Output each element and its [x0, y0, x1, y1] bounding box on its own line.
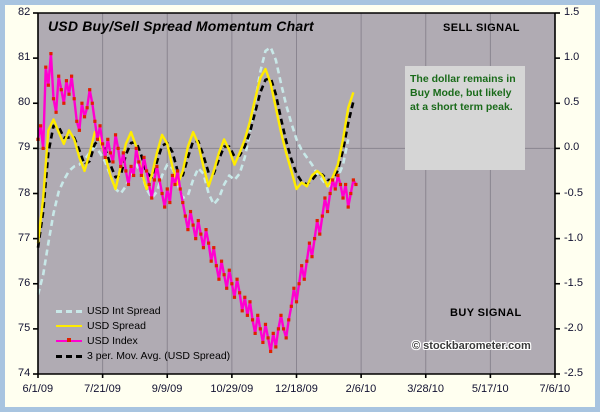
series-marker: [114, 133, 117, 136]
series-marker: [96, 138, 99, 141]
series-marker: [256, 314, 259, 317]
series-marker: [269, 350, 272, 353]
series-marker: [181, 201, 184, 204]
series-marker: [217, 278, 220, 281]
series-marker: [176, 169, 179, 172]
series-marker: [127, 183, 130, 186]
legend-item: USD Int Spread: [56, 303, 230, 318]
series-marker: [129, 165, 132, 168]
series-marker: [122, 151, 125, 154]
series-marker: [135, 147, 138, 150]
series-marker: [248, 300, 251, 303]
series-marker: [52, 97, 55, 100]
series-marker: [186, 228, 189, 231]
series-marker: [238, 291, 241, 294]
series-marker: [336, 174, 339, 177]
y-axis-left-tick-label: 81: [18, 51, 30, 63]
legend-item: USD Spread: [56, 318, 230, 333]
series-marker: [194, 237, 197, 240]
series-marker: [282, 327, 285, 330]
y-axis-left-tick-label: 75: [18, 322, 30, 334]
window-frame: USD Buy/Sell Spread Momentum Chart SELL …: [0, 0, 600, 412]
series-marker: [44, 66, 47, 69]
series-marker: [235, 278, 238, 281]
series-marker: [192, 223, 195, 226]
series-marker: [316, 219, 319, 222]
series-marker: [279, 314, 282, 317]
y-axis-right-tick-label: -1.5: [564, 277, 583, 289]
series-marker: [292, 287, 295, 290]
series-marker: [341, 196, 344, 199]
series-marker: [220, 260, 223, 263]
legend-swatch-1: [56, 306, 82, 316]
series-marker: [42, 147, 45, 150]
series-marker: [155, 165, 158, 168]
watermark: © stockbarometer.com: [412, 340, 531, 352]
series-marker: [75, 120, 78, 123]
series-marker: [228, 269, 231, 272]
series-marker: [290, 305, 293, 308]
x-axis-tick-label: 7/6/10: [540, 383, 571, 395]
series-marker: [300, 264, 303, 267]
legend-swatch-marker: [67, 338, 71, 342]
annotation-line-2: Buy Mode, but likely: [410, 86, 525, 100]
series-marker: [212, 246, 215, 249]
series-marker: [86, 106, 89, 109]
series-marker: [109, 151, 112, 154]
series-marker: [83, 115, 86, 118]
series-marker: [166, 187, 169, 190]
x-axis-tick-label: 7/21/09: [84, 383, 121, 395]
y-axis-right-tick-label: 0.5: [564, 96, 579, 108]
series-marker: [215, 264, 218, 267]
chart-legend: USD Int SpreadUSD SpreadUSD Index3 per. …: [56, 303, 230, 363]
y-axis-right-tick-label: -1.0: [564, 232, 583, 244]
y-axis-right-tick-label: 0.0: [564, 141, 579, 153]
series-marker: [106, 138, 109, 141]
series-marker: [225, 287, 228, 290]
series-marker: [163, 205, 166, 208]
series-marker: [308, 242, 311, 245]
y-axis-left-tick-label: 80: [18, 96, 30, 108]
x-axis-tick-label: 5/17/10: [472, 383, 509, 395]
series-marker: [142, 156, 145, 159]
series-marker: [88, 88, 91, 91]
series-marker: [339, 183, 342, 186]
series-marker: [334, 187, 337, 190]
series-marker: [223, 273, 226, 276]
series-marker: [272, 332, 275, 335]
series-marker: [62, 102, 65, 105]
series-marker: [285, 336, 288, 339]
series-marker: [259, 327, 262, 330]
series-marker: [321, 214, 324, 217]
chart-title: USD Buy/Sell Spread Momentum Chart: [48, 18, 314, 34]
series-marker: [54, 111, 57, 114]
series-marker: [160, 192, 163, 195]
series-marker: [197, 219, 200, 222]
series-marker: [202, 246, 205, 249]
series-marker: [305, 260, 308, 263]
series-marker: [295, 300, 298, 303]
series-marker: [349, 192, 352, 195]
series-marker: [347, 205, 350, 208]
series-marker: [344, 183, 347, 186]
series-marker: [323, 196, 326, 199]
series-marker: [254, 332, 257, 335]
series-marker: [93, 120, 96, 123]
annotation-line-3: at a short term peak.: [410, 100, 525, 114]
series-marker: [313, 237, 316, 240]
y-axis-right-tick-label: -0.5: [564, 187, 583, 199]
sell-signal-label: SELL SIGNAL: [443, 22, 520, 34]
x-axis-tick-label: 12/18/09: [275, 383, 318, 395]
series-marker: [39, 124, 42, 127]
y-axis-right-tick-label: -2.5: [564, 367, 583, 379]
series-marker: [73, 97, 76, 100]
legend-label: USD Index: [87, 335, 138, 347]
legend-swatch-line: [56, 325, 82, 328]
legend-swatch-2: [56, 321, 82, 331]
series-marker: [184, 214, 187, 217]
series-marker: [80, 102, 83, 105]
legend-label: 3 per. Mov. Avg. (USD Spread): [87, 350, 230, 362]
y-axis-left-tick-label: 76: [18, 277, 30, 289]
y-axis-right-tick-label: -2.0: [564, 322, 583, 334]
buy-signal-label: BUY SIGNAL: [450, 307, 522, 319]
series-marker: [70, 75, 73, 78]
series-marker: [261, 341, 264, 344]
series-marker: [117, 147, 120, 150]
series-marker: [303, 278, 306, 281]
series-marker: [277, 327, 280, 330]
series-marker: [354, 183, 357, 186]
series-marker: [246, 314, 249, 317]
series-marker: [189, 210, 192, 213]
series-marker: [241, 309, 244, 312]
series-marker: [243, 296, 246, 299]
series-marker: [352, 178, 355, 181]
annotation-box: The dollar remains in Buy Mode, but like…: [405, 66, 525, 170]
series-marker: [124, 169, 127, 172]
series-marker: [199, 233, 202, 236]
series-marker: [210, 260, 213, 263]
series-marker: [287, 318, 290, 321]
series-marker: [78, 129, 81, 132]
legend-label: USD Spread: [87, 320, 146, 332]
legend-swatch-3: [56, 336, 82, 346]
series-marker: [274, 345, 277, 348]
legend-swatch-line: [56, 355, 82, 358]
series-marker: [140, 174, 143, 177]
y-axis-left-tick-label: 82: [18, 6, 30, 18]
series-marker: [132, 174, 135, 177]
series-marker: [150, 196, 153, 199]
x-axis-tick-label: 6/1/09: [23, 383, 54, 395]
series-marker: [168, 201, 171, 204]
x-axis-tick-label: 10/29/09: [210, 383, 253, 395]
series-marker: [329, 192, 332, 195]
series-marker: [145, 169, 148, 172]
x-axis-tick-label: 3/28/10: [407, 383, 444, 395]
y-axis-right-tick-label: 1.5: [564, 6, 579, 18]
series-marker: [310, 255, 313, 258]
series-marker: [173, 183, 176, 186]
series-marker: [57, 75, 60, 78]
series-marker: [297, 282, 300, 285]
series-marker: [65, 79, 68, 82]
y-axis-left-tick-label: 77: [18, 232, 30, 244]
legend-label: USD Int Spread: [87, 305, 161, 317]
series-marker: [101, 142, 104, 145]
series-marker: [251, 318, 254, 321]
x-axis-tick-label: 9/9/09: [152, 383, 183, 395]
series-marker: [49, 52, 52, 55]
series-marker: [171, 174, 174, 177]
series-marker: [111, 160, 114, 163]
legend-swatch-line: [56, 310, 82, 313]
series-marker: [47, 84, 50, 87]
series-marker: [119, 165, 122, 168]
series-marker: [98, 124, 101, 127]
series-marker: [153, 178, 156, 181]
series-marker: [67, 93, 70, 96]
legend-swatch-4: [56, 351, 82, 361]
series-marker: [207, 242, 210, 245]
series-marker: [148, 183, 151, 186]
series-marker: [230, 282, 233, 285]
series-marker: [204, 228, 207, 231]
annotation-line-1: The dollar remains in: [410, 72, 525, 86]
series-marker: [331, 178, 334, 181]
series-marker: [137, 160, 140, 163]
series-marker: [233, 296, 236, 299]
series-marker: [318, 233, 321, 236]
y-axis-right-tick-label: 1.0: [564, 51, 579, 63]
series-marker: [264, 323, 267, 326]
x-axis-tick-label: 2/6/10: [346, 383, 377, 395]
y-axis-left-tick-label: 74: [18, 367, 30, 379]
series-marker: [266, 336, 269, 339]
series-marker: [60, 88, 63, 91]
series-marker: [179, 187, 182, 190]
series-marker: [104, 156, 107, 159]
legend-item: 3 per. Mov. Avg. (USD Spread): [56, 348, 230, 363]
y-axis-left-tick-label: 78: [18, 187, 30, 199]
series-marker: [326, 210, 329, 213]
series-marker: [158, 178, 161, 181]
y-axis-left-tick-label: 79: [18, 141, 30, 153]
legend-item: USD Index: [56, 333, 230, 348]
series-marker: [91, 102, 94, 105]
